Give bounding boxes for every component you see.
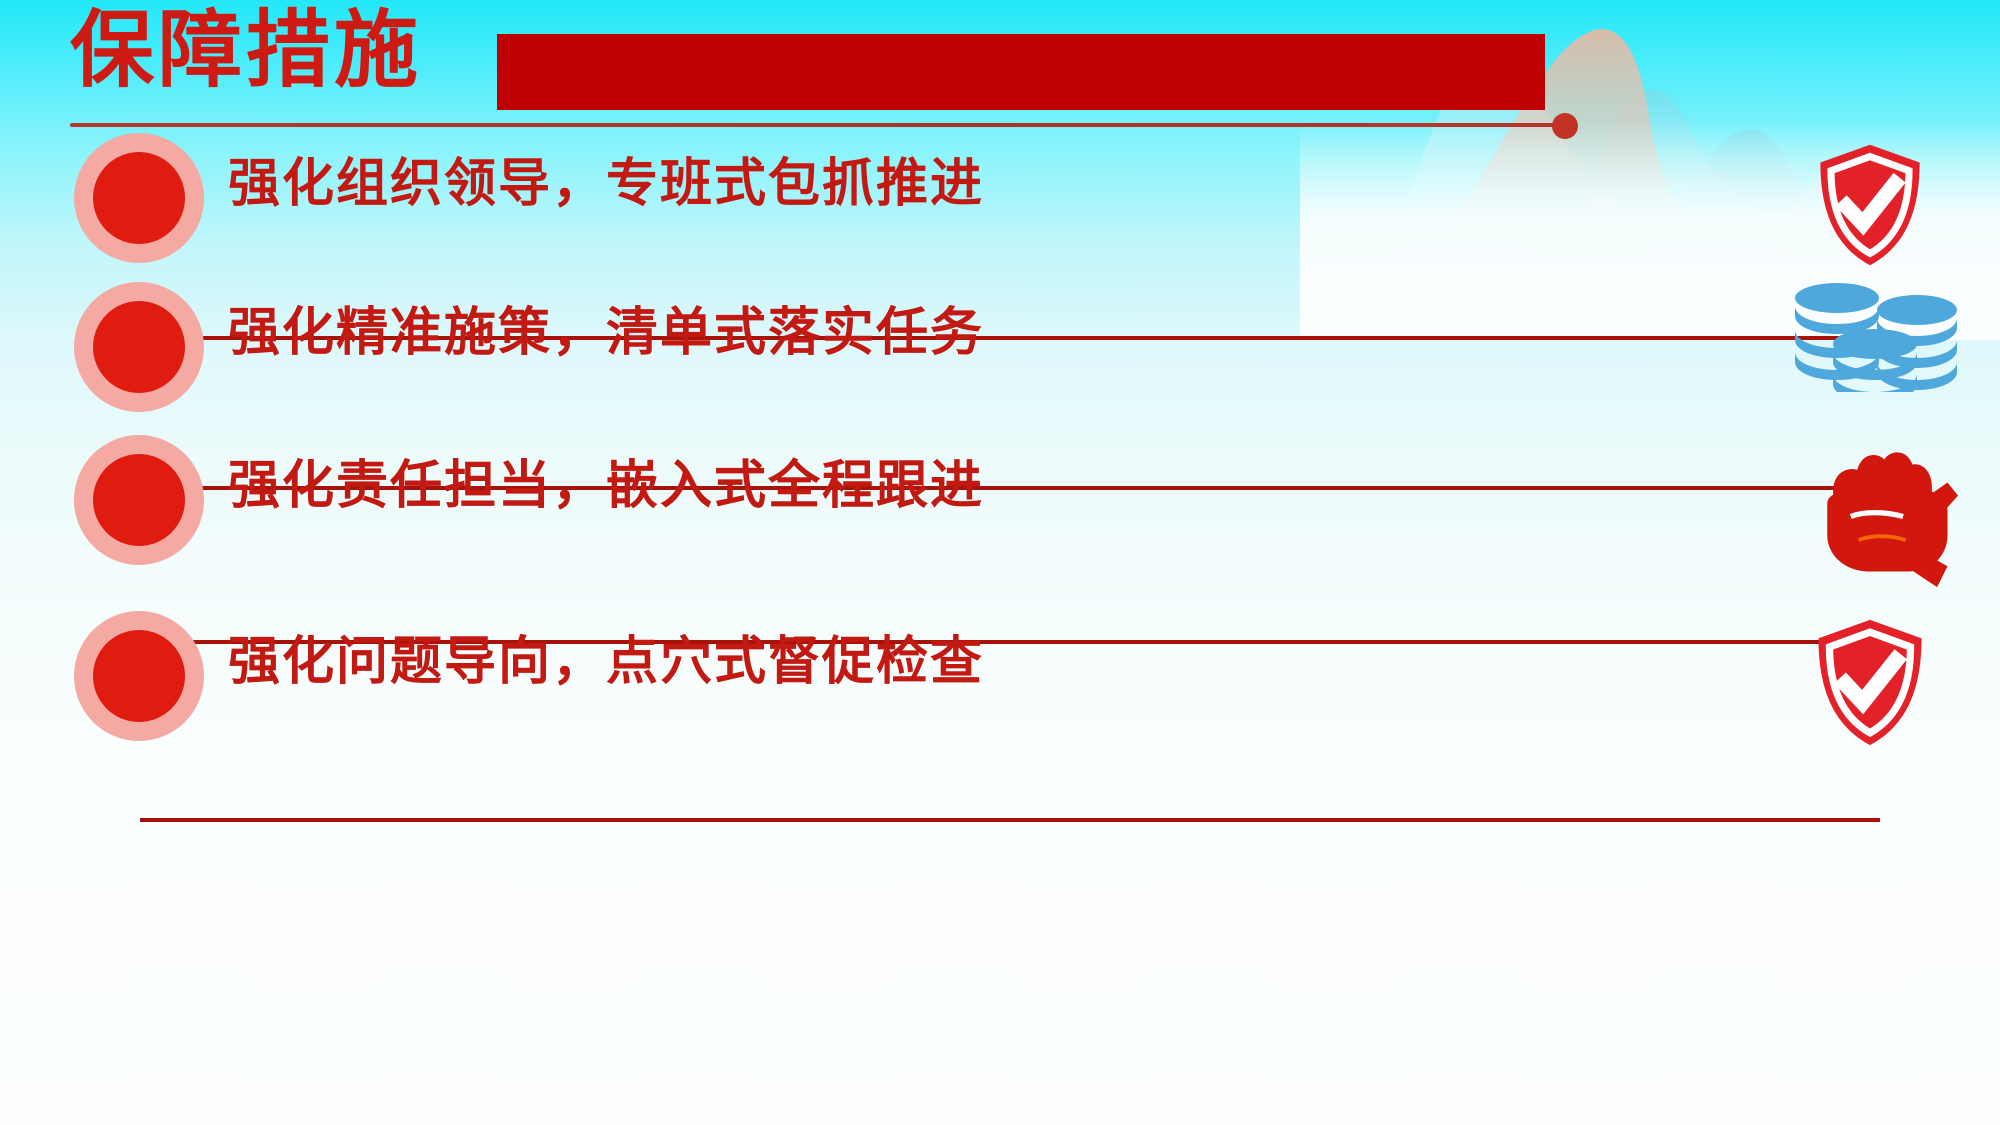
shield-check-icon [1790,615,1950,750]
bullet-circle-icon [74,282,204,412]
bullet-inner-dot-icon [93,630,185,722]
bullet-inner-dot-icon [93,454,185,546]
list-item[interactable]: 强化责任担当，嵌入式全程跟进 [0,435,2000,600]
slide-canvas: 保障措施 强化组织领导，专班式包抓推进 强化精准施策，清单式落实任务 [0,0,2000,1125]
list-item-label: 强化责任担当，嵌入式全程跟进 [228,453,984,521]
list-item-label: 强化精准施策，清单式落实任务 [228,300,984,368]
list-item[interactable]: 强化精准施策，清单式落实任务 [0,282,2000,447]
bullet-inner-dot-icon [93,301,185,393]
row-divider [140,818,1880,822]
bullet-circle-icon [74,435,204,565]
measures-list: 强化组织领导，专班式包抓推进 强化精准施策，清单式落实任务 强化责任担当，嵌入式… [0,0,2000,1125]
list-item[interactable]: 强化问题导向，点穴式督促检查 [0,611,2000,776]
shield-check-icon [1790,140,1950,270]
raised-fist-icon [1800,425,1980,595]
list-item-label: 强化组织领导，专班式包抓推进 [228,151,984,219]
list-item[interactable]: 强化组织领导，专班式包抓推进 [0,133,2000,298]
bullet-inner-dot-icon [93,152,185,244]
bullet-circle-icon [74,133,204,263]
list-item-label: 强化问题导向，点穴式督促检查 [228,629,984,697]
coins-stack-icon [1780,282,1970,392]
bullet-circle-icon [74,611,204,741]
